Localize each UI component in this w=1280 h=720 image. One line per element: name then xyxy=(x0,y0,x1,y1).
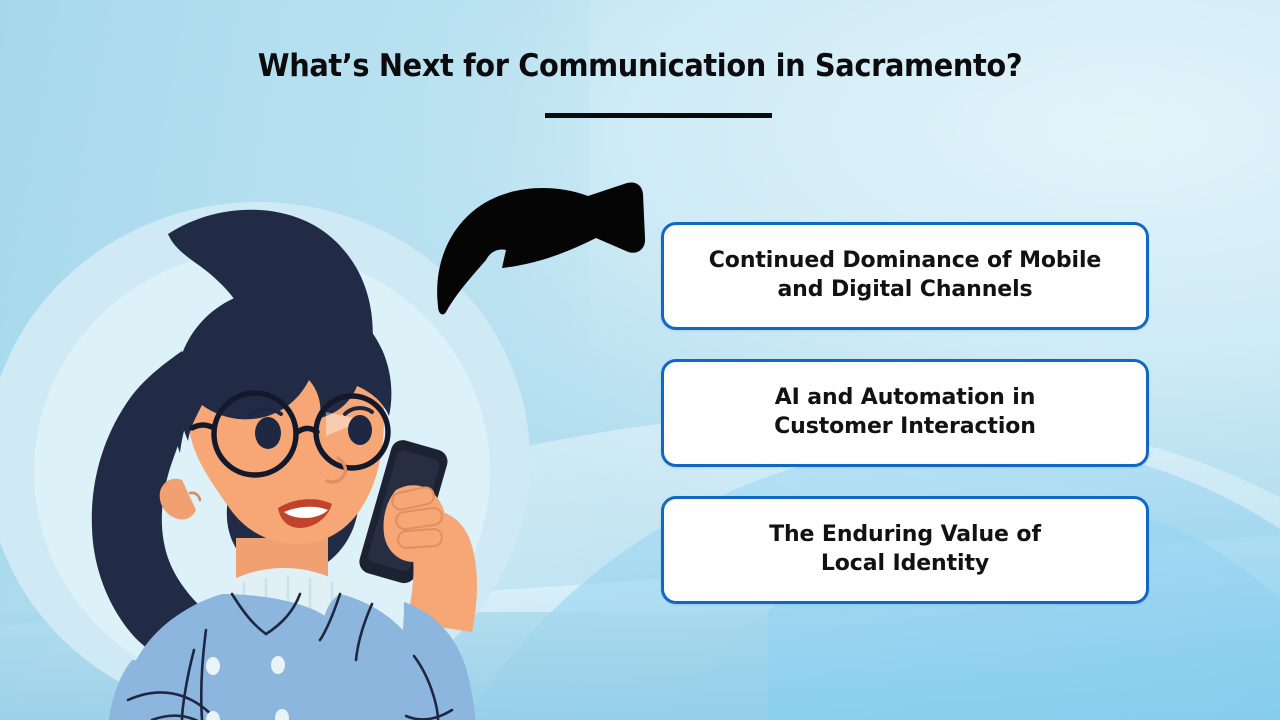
slide-canvas: What’s Next for Communication in Sacrame… xyxy=(0,0,1280,720)
callout-box-1-label: Continued Dominance of Mobile and Digita… xyxy=(709,247,1101,304)
callout-box-2-label: AI and Automation in Customer Interactio… xyxy=(774,384,1036,441)
page-title-wrap: What’s Next for Communication in Sacrame… xyxy=(0,48,1280,84)
callout-box-2[interactable]: AI and Automation in Customer Interactio… xyxy=(661,359,1149,467)
eye-left-icon xyxy=(255,417,281,449)
callout-box-3-label: The Enduring Value of Local Identity xyxy=(769,521,1041,578)
title-underline xyxy=(545,113,772,118)
page-title: What’s Next for Communication in Sacrame… xyxy=(258,48,1022,84)
callout-box-list: Continued Dominance of Mobile and Digita… xyxy=(661,222,1149,604)
eye-right-icon xyxy=(348,415,372,445)
curved-arrow xyxy=(428,176,658,316)
callout-box-3[interactable]: The Enduring Value of Local Identity xyxy=(661,496,1149,604)
callout-box-1[interactable]: Continued Dominance of Mobile and Digita… xyxy=(661,222,1149,330)
